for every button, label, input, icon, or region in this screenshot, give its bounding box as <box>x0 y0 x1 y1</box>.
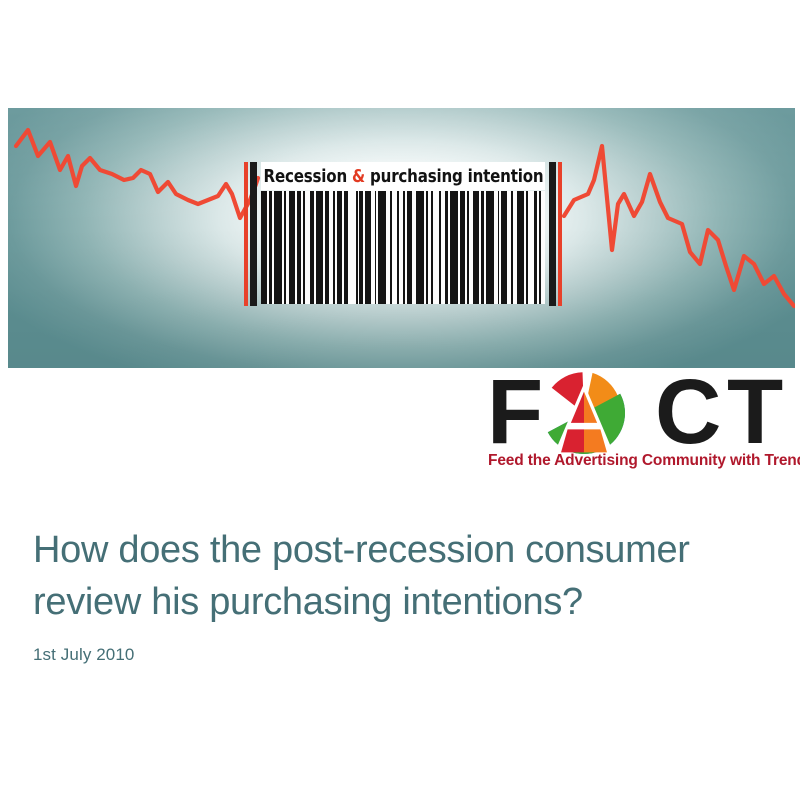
page-title-line-1: How does the post-recession consumer <box>33 529 690 571</box>
barcode-label: Recession & purchasing intention <box>261 162 545 190</box>
fact-logo-letters: F C T <box>487 368 795 454</box>
barcode-bar <box>316 191 324 304</box>
barcode-bar <box>274 191 282 304</box>
barcode-bar <box>517 191 525 304</box>
page-title: How does the post-recession consumerrevi… <box>33 524 773 629</box>
barcode-label-suffix: purchasing intention <box>365 166 543 187</box>
barcode-edge-left <box>244 162 248 306</box>
barcode-bar <box>486 191 494 304</box>
barcode-label-ampersand: & <box>352 166 365 187</box>
barcode-bar <box>378 191 386 304</box>
barcode-graphic: Recession & purchasing intention <box>244 162 562 306</box>
page-title-line-2: review his purchasing intentions? <box>33 581 583 623</box>
trend-line-left <box>16 130 258 218</box>
barcode-space <box>348 191 356 304</box>
page-date: 1st July 2010 <box>33 645 773 665</box>
trend-line-right <box>564 146 794 306</box>
barcode-edge-right <box>558 162 562 306</box>
fact-logo: F C T Feed the Advertising Community wit… <box>487 368 795 478</box>
barcode-label-text: Recession & purchasing intention <box>263 166 543 187</box>
title-block: How does the post-recession consumerrevi… <box>33 524 773 665</box>
barcode-guard-left <box>250 162 257 306</box>
logo-letter-f: F <box>487 366 543 458</box>
logo-letter-t: T <box>727 366 783 458</box>
logo-letter-c: C <box>655 366 721 458</box>
fact-logo-tagline: Feed the Advertising Community with Tren… <box>488 452 800 470</box>
barcode-space <box>541 191 545 304</box>
barcode-bar <box>450 191 458 304</box>
barcode-guard-right <box>549 162 556 306</box>
hero-banner: Recession & purchasing intention <box>8 108 795 368</box>
barcode-bars <box>261 191 545 304</box>
barcode-label-prefix: Recession <box>263 166 352 187</box>
barcode-bar <box>416 191 424 304</box>
fact-logo-mark-icon <box>543 372 625 454</box>
